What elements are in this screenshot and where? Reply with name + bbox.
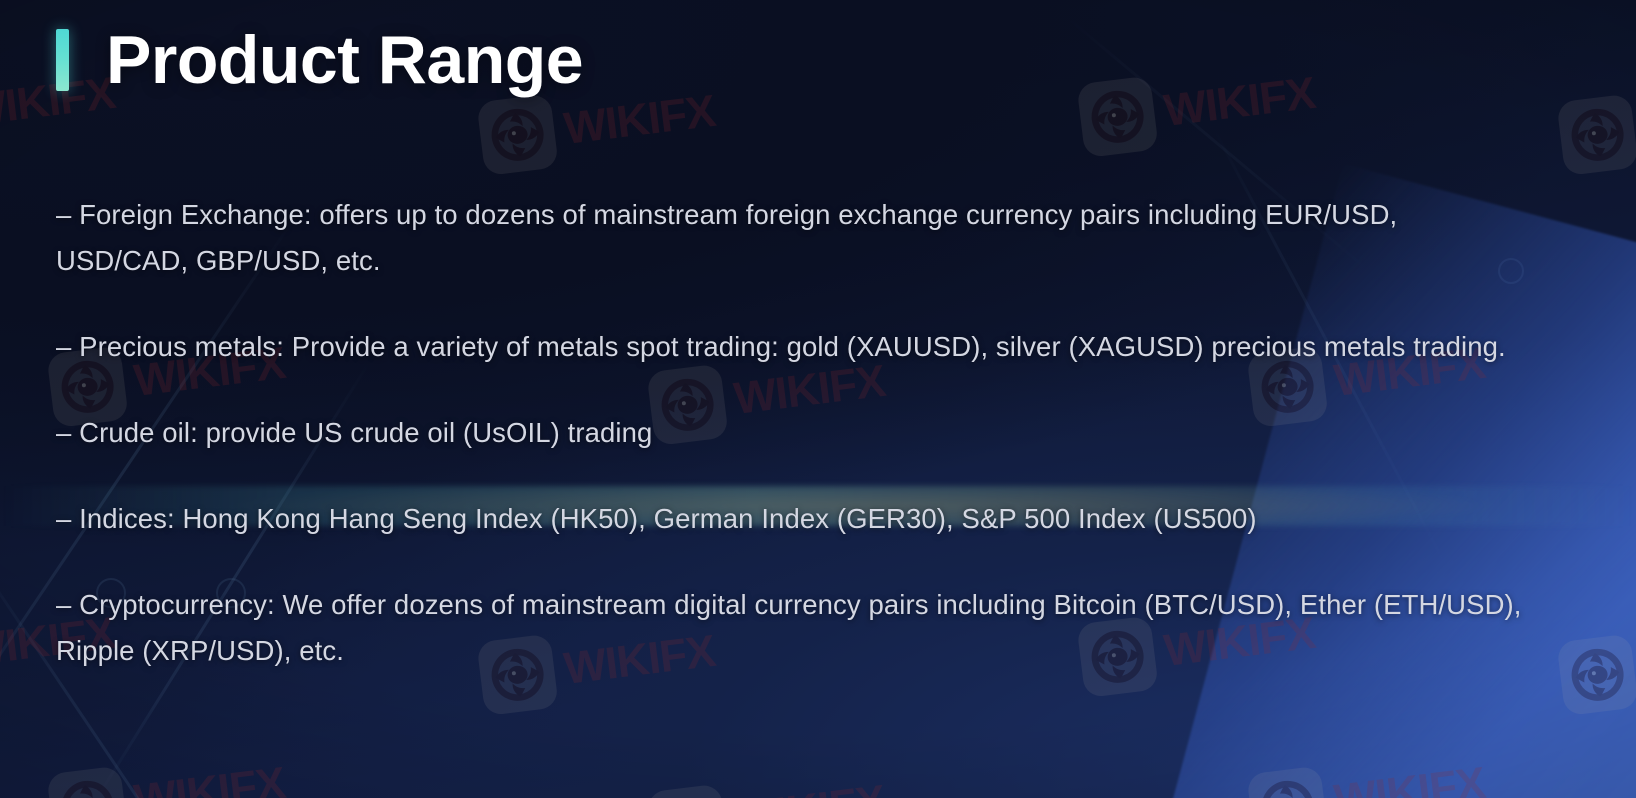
product-list: – Foreign Exchange: offers up to dozens … <box>56 192 1526 674</box>
product-item-precious-metals: – Precious metals: Provide a variety of … <box>56 324 1526 370</box>
slide-heading: Product Range <box>56 26 583 94</box>
page-title: Product Range <box>106 26 583 94</box>
product-item-indices: – Indices: Hong Kong Hang Seng Index (HK… <box>56 496 1526 542</box>
product-range-slide: WIKIFXWIKIFXWIKIFXWIKIFXWIKIFXWIKIFXWIKI… <box>0 0 1636 798</box>
product-item-crude-oil: – Crude oil: provide US crude oil (UsOIL… <box>56 410 1526 456</box>
product-item-cryptocurrency: – Cryptocurrency: We offer dozens of mai… <box>56 582 1526 674</box>
heading-accent-bar <box>56 29 69 91</box>
product-item-foreign-exchange: – Foreign Exchange: offers up to dozens … <box>56 192 1526 284</box>
